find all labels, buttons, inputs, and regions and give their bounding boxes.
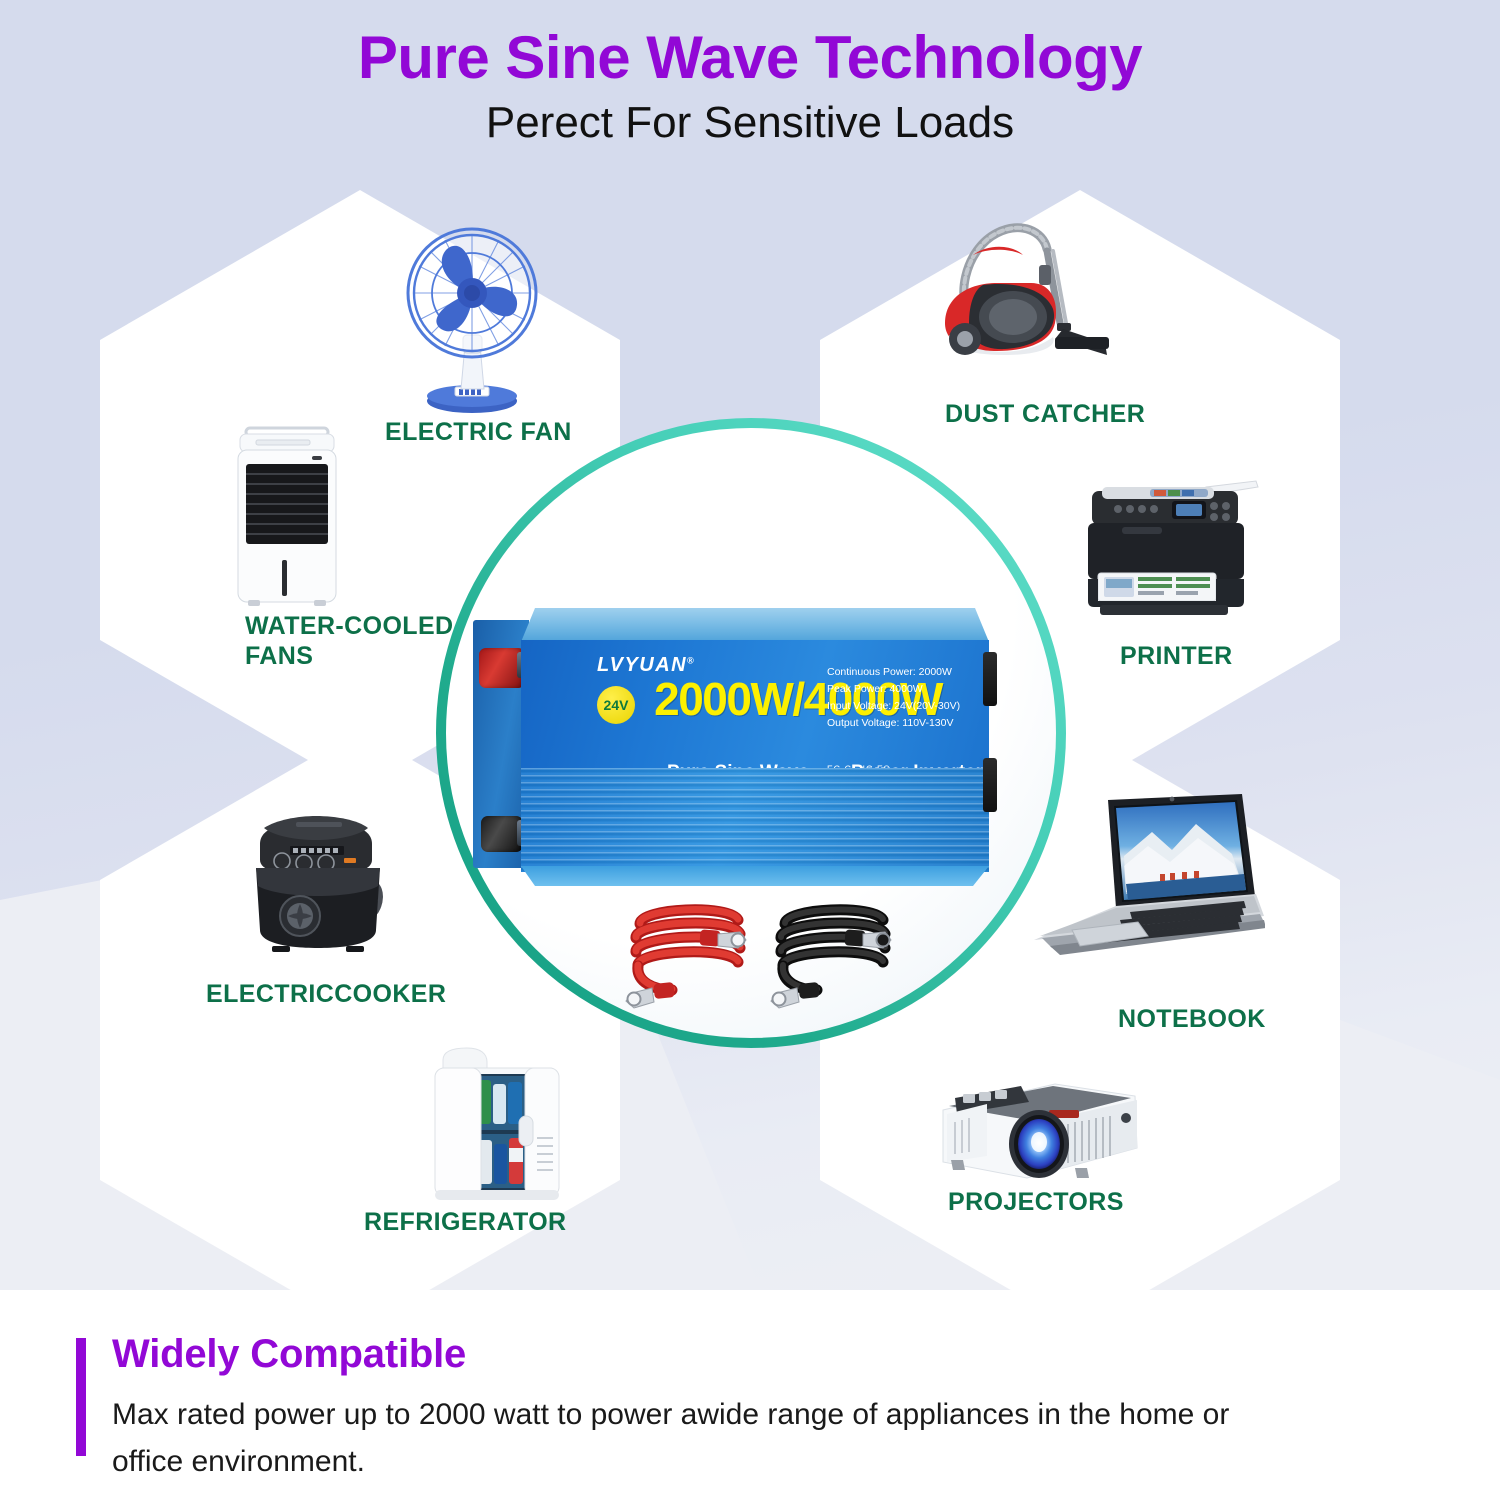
inverter-vent-bottom: [983, 758, 997, 812]
hex-label-electric-fan: ELECTRIC FAN: [385, 418, 572, 448]
inverter-top-bevel: [521, 608, 989, 642]
positive-cable: [626, 910, 746, 1008]
hex-label-projectors: PROJECTORS: [948, 1188, 1124, 1218]
registered-mark: ®: [687, 655, 695, 665]
accent-bar: [76, 1338, 86, 1456]
spec-output-voltage: Output Voltage: 110V-130V: [827, 715, 977, 732]
battery-cable-pair: [610, 890, 910, 1015]
laptop-icon: [1020, 788, 1265, 973]
inverter-chassis: LVYUAN® 24V 2000W/4000W F-2000P Pure Sin…: [521, 608, 989, 876]
spec-continuous-power: Continuous Power: 2000W: [827, 664, 977, 681]
page-title: Pure Sine Wave Technology: [0, 24, 1500, 91]
footer-body-text: Max rated power up to 2000 watt to power…: [112, 1392, 1292, 1485]
inverter-heatsink: [521, 768, 989, 872]
inverter-front-label: LVYUAN® 24V 2000W/4000W F-2000P Pure Sin…: [521, 640, 989, 768]
rice-cooker-icon: [238, 808, 398, 958]
hex-label-water-cooled-fans: WATER-COOLED FANS: [245, 612, 454, 671]
negative-cable: [771, 910, 891, 1008]
spec-peak-power: Peak Power: 4000W: [827, 681, 977, 698]
header: Pure Sine Wave Technology Perect For Sen…: [0, 24, 1500, 150]
electric-fan-icon: [385, 225, 560, 415]
vacuum-cleaner-icon: [935, 205, 1110, 385]
printer-icon: [1080, 475, 1260, 620]
hex-label-dust-catcher: DUST CATCHER: [945, 400, 1145, 430]
inverter-vent-top: [983, 652, 997, 706]
hex-label-electric-cooker: ELECTRICCOOKER: [206, 980, 446, 1010]
footer-heading: Widely Compatible: [112, 1332, 466, 1377]
projector-icon: [935, 1070, 1145, 1195]
page-subtitle: Perect For Sensitive Loads: [0, 95, 1500, 150]
inverter-base-bevel: [521, 866, 989, 886]
spec-input-voltage: Input Voltage: 24V(20V-30V): [827, 698, 977, 715]
spec-list: Continuous Power: 2000W Peak Power: 4000…: [827, 664, 977, 732]
hex-label-refrigerator: REFRIGERATOR: [364, 1208, 567, 1238]
hex-label-printer: PRINTER: [1120, 642, 1233, 672]
mini-fridge-icon: [415, 1042, 575, 1207]
infographic-canvas: Pure Sine Wave Technology Perect For Sen…: [0, 0, 1500, 1500]
power-inverter-product: LVYUAN® 24V 2000W/4000W F-2000P Pure Sin…: [463, 592, 1023, 892]
air-cooler-icon: [232, 420, 342, 610]
footer-section: Widely Compatible Max rated power up to …: [0, 1330, 1500, 1500]
hex-label-notebook: NOTEBOOK: [1118, 1005, 1266, 1035]
voltage-badge: 24V: [597, 686, 635, 724]
